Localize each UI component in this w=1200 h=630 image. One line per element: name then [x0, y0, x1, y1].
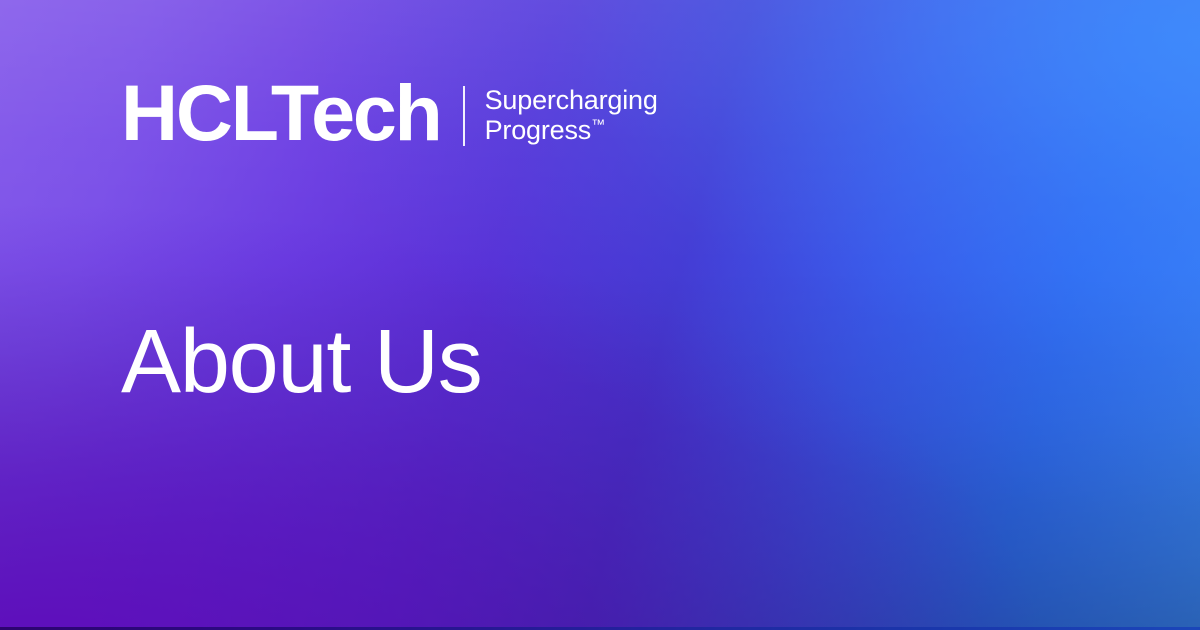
- logo-tagline-progress: Progress: [485, 115, 591, 145]
- logo-tagline-line-1: Supercharging: [485, 85, 658, 115]
- page-title: About Us: [121, 314, 482, 410]
- logo-wordmark: HCLTech: [121, 76, 441, 150]
- logo-tagline: Supercharging Progress™: [485, 85, 658, 145]
- trademark-icon: ™: [591, 116, 605, 132]
- logo-divider-icon: [463, 86, 465, 146]
- about-us-banner: HCLTech Supercharging Progress™ About Us: [0, 0, 1200, 630]
- banner-content: HCLTech Supercharging Progress™ About Us: [0, 0, 1200, 630]
- hcltech-logo[interactable]: HCLTech Supercharging Progress™: [121, 76, 658, 150]
- logo-tagline-line-2: Progress™: [485, 115, 658, 145]
